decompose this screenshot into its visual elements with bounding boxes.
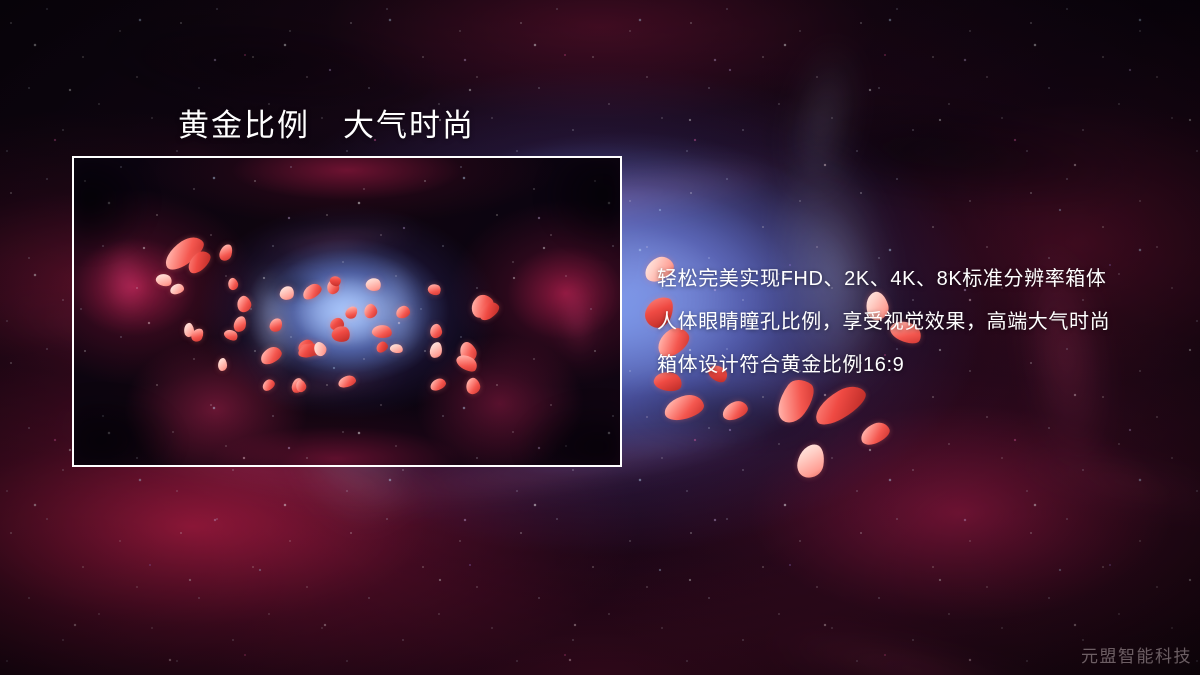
- body-line-3: 箱体设计符合黄金比例16:9: [657, 344, 1157, 387]
- body-text-block: 轻松完美实现FHD、2K、4K、8K标准分辨率箱体 人体眼睛瞳孔比例，享受视觉效…: [657, 258, 1157, 387]
- panel-image: [74, 158, 620, 465]
- slide-root: 黄金比例 大气时尚 轻松完美实现FHD、2K、4K、8K标准分辨率箱体 人体眼睛…: [0, 0, 1200, 675]
- body-line-1: 轻松完美实现FHD、2K、4K、8K标准分辨率箱体: [657, 258, 1157, 301]
- page-title: 黄金比例 大气时尚: [178, 100, 475, 145]
- framed-image-panel: [72, 156, 622, 467]
- watermark: 元盟智能科技: [1081, 642, 1192, 667]
- body-line-2: 人体眼睛瞳孔比例，享受视觉效果，高端大气时尚: [657, 301, 1157, 344]
